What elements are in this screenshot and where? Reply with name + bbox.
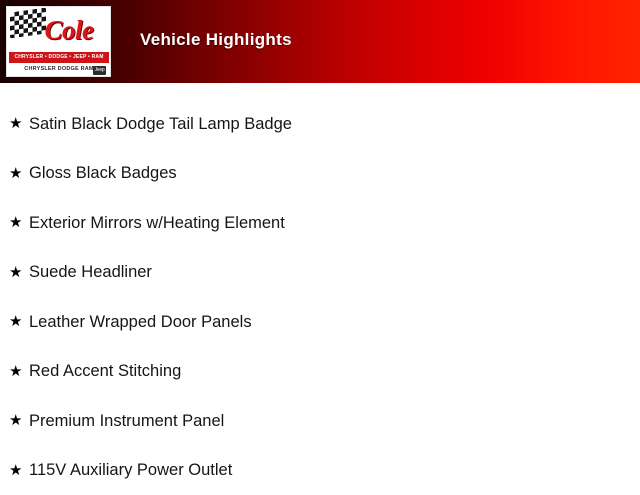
list-item: ★ Red Accent Stitching: [0, 347, 640, 397]
list-item: ★ Gloss Black Badges: [0, 149, 640, 199]
list-item: ★ Suede Headliner: [0, 248, 640, 298]
highlights-list: ★ Satin Black Dodge Tail Lamp Badge ★ Gl…: [0, 99, 640, 495]
list-item-label: Exterior Mirrors w/Heating Element: [29, 214, 285, 232]
list-item-label: 115V Auxiliary Power Outlet: [29, 461, 232, 479]
vehicle-highlights-page: Cole CHRYSLER • DODGE • JEEP • RAM CHRYS…: [0, 0, 640, 480]
star-bullet-icon: ★: [9, 265, 29, 280]
list-item: ★ 115V Auxiliary Power Outlet: [0, 446, 640, 495]
dealer-logo-name: Cole: [27, 15, 111, 46]
page-title: Vehicle Highlights: [140, 30, 292, 50]
list-item: ★ Exterior Mirrors w/Heating Element: [0, 198, 640, 248]
dealer-logo-tagline-bar: CHRYSLER • DODGE • JEEP • RAM: [9, 52, 109, 63]
list-item-label: Leather Wrapped Door Panels: [29, 313, 252, 331]
jeep-badge-icon: Jeep: [93, 66, 106, 75]
page-header: Cole CHRYSLER • DODGE • JEEP • RAM CHRYS…: [0, 0, 640, 83]
star-bullet-icon: ★: [9, 463, 29, 478]
star-bullet-icon: ★: [9, 314, 29, 329]
star-bullet-icon: ★: [9, 166, 29, 181]
star-bullet-icon: ★: [9, 116, 29, 131]
list-item: ★ Premium Instrument Panel: [0, 396, 640, 446]
star-bullet-icon: ★: [9, 364, 29, 379]
dealer-logo: Cole CHRYSLER • DODGE • JEEP • RAM CHRYS…: [6, 6, 111, 77]
list-item-label: Suede Headliner: [29, 263, 152, 281]
list-item-label: Satin Black Dodge Tail Lamp Badge: [29, 115, 292, 133]
dealer-logo-tagline: CHRYSLER • DODGE • JEEP • RAM: [9, 52, 109, 63]
star-bullet-icon: ★: [9, 413, 29, 428]
list-item: ★ Satin Black Dodge Tail Lamp Badge: [0, 99, 640, 149]
highlights-section: ★ Satin Black Dodge Tail Lamp Badge ★ Gl…: [0, 83, 640, 495]
list-item: ★ Leather Wrapped Door Panels: [0, 297, 640, 347]
list-item-label: Red Accent Stitching: [29, 362, 181, 380]
list-item-label: Gloss Black Badges: [29, 164, 177, 182]
list-item-label: Premium Instrument Panel: [29, 412, 224, 430]
star-bullet-icon: ★: [9, 215, 29, 230]
